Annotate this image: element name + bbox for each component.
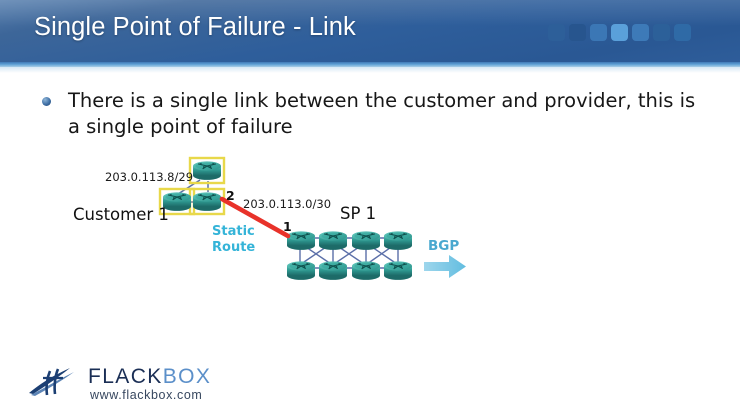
- highlight-customer-router-right: [190, 189, 224, 214]
- label-static-route-line1: Static: [212, 224, 255, 239]
- header-square-7: [674, 24, 691, 41]
- header-square-1: [548, 24, 565, 41]
- bullet-item-text: There is a single link between the custo…: [68, 88, 702, 140]
- label-interface-customer: 2: [226, 188, 235, 203]
- label-link-subnet: 203.0.113.0/30: [243, 197, 331, 211]
- sp-mesh-links: [300, 238, 398, 268]
- sp-router-r1c4: [384, 231, 412, 250]
- bgp-arrow-icon: [424, 255, 466, 278]
- page-title: Single Point of Failure - Link: [34, 13, 356, 42]
- slide: Single Point of Failure - Link There is …: [0, 0, 740, 416]
- label-static-route-line2: Route: [212, 240, 255, 255]
- logo-wordmark: FLACKBOX: [88, 365, 211, 389]
- sp-router-r1c3: [352, 231, 380, 250]
- sp-router-r2c1: [287, 261, 315, 280]
- customer-router-top: [193, 161, 221, 180]
- header-square-3: [590, 24, 607, 41]
- header-square-5: [632, 24, 649, 41]
- sp-router-r2c3: [352, 261, 380, 280]
- logo-url: www.flackbox.com: [90, 388, 202, 402]
- sp-router-r2c4: [384, 261, 412, 280]
- customer-router-right: [193, 192, 221, 211]
- header-square-6: [653, 24, 670, 41]
- footer-logo: FLACKBOX www.flackbox.com: [26, 362, 226, 406]
- highlight-customer-router-top: [190, 158, 224, 183]
- bullet-list: There is a single link between the custo…: [42, 88, 702, 140]
- bullet-dot-icon: [42, 97, 51, 106]
- header-divider-fade: [0, 67, 740, 73]
- sp-router-r1c2: [319, 231, 347, 250]
- sp-router-r2c2: [319, 261, 347, 280]
- label-customer-name: Customer 1: [73, 205, 169, 224]
- flackbox-swoosh-icon: [26, 364, 84, 400]
- sp-router-r1c1: [287, 231, 315, 250]
- label-bgp: BGP: [428, 238, 459, 254]
- slide-header: Single Point of Failure - Link: [0, 0, 740, 62]
- header-decoration-squares: [548, 24, 691, 41]
- logo-wordmark-primary: FLACK: [88, 365, 163, 388]
- logo-wordmark-secondary: BOX: [163, 365, 212, 388]
- header-square-4: [611, 24, 628, 41]
- label-customer-subnet: 203.0.113.8/29: [105, 170, 193, 184]
- customer-router-highlights: [160, 158, 224, 214]
- header-square-2: [569, 24, 586, 41]
- label-sp-name: SP 1: [340, 204, 376, 223]
- label-interface-sp: 1: [283, 219, 292, 234]
